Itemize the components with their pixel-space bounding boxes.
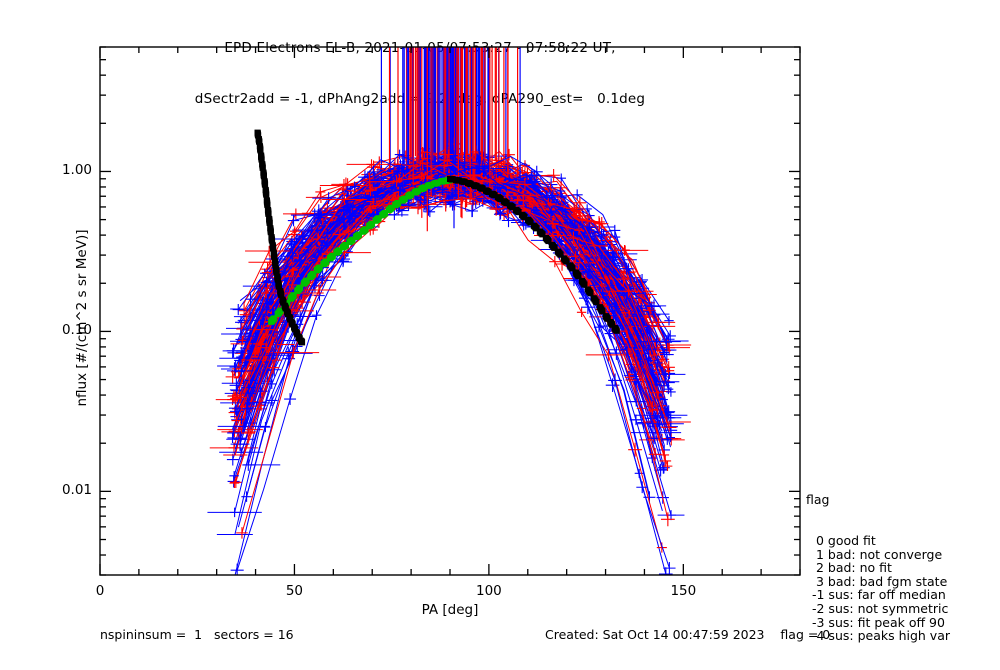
data-point-marker: [232, 416, 241, 425]
data-point-marker: [233, 304, 244, 315]
data-point-marker: [664, 316, 673, 325]
flag-legend-item: -4 sus: peaks high var: [812, 629, 950, 643]
fit-curve-dash: [263, 191, 269, 197]
data-point-marker: [312, 310, 322, 320]
footer-spin-info: nspininsum = 1 sectors = 16: [100, 627, 294, 642]
x-tick-label: 150: [653, 583, 713, 599]
data-point-marker: [227, 454, 239, 466]
fit-curve-dash: [614, 328, 620, 334]
flag-legend-item: 1 bad: not converge: [812, 548, 950, 562]
flag-legend-item: 3 bad: bad fgm state: [812, 575, 950, 589]
flag-legend-item: -1 sus: far off median: [812, 588, 950, 602]
flag-legend-item: -2 sus: not symmetric: [812, 602, 950, 616]
y-tick-label: 1.00: [32, 162, 92, 178]
y-tick-label: 0.01: [32, 482, 92, 498]
fit-curve-dash: [262, 182, 268, 188]
data-point-marker: [315, 187, 325, 197]
data-point-marker: [666, 387, 676, 397]
flag-legend-item: -3 sus: fit peak off 90: [812, 616, 950, 630]
fit-curve-dash: [267, 220, 273, 226]
data-point-marker: [659, 567, 673, 581]
data-layer: [207, 47, 691, 581]
x-tick-label: 0: [70, 583, 130, 599]
data-point-marker: [229, 471, 239, 481]
data-point-marker: [284, 393, 296, 405]
data-point-marker: [577, 308, 586, 317]
x-axis-title: PA [deg]: [100, 602, 800, 618]
pad-spectrum-line: [246, 177, 655, 455]
data-point-marker: [572, 189, 583, 200]
fit-curve-dash: [299, 339, 305, 345]
flag-legend-item: 0 good fit: [812, 534, 950, 548]
fit-curve-dash: [257, 147, 263, 153]
plot-page: EPD Electrons EL-B, 2021-01-05/07:53:27 …: [0, 0, 1000, 650]
footer-created-info: Created: Sat Oct 14 00:47:59 2023 flag =…: [545, 627, 830, 642]
flag-legend-header: flag: [806, 493, 950, 507]
x-tick-label: 50: [264, 583, 324, 599]
pad-spectrum-line: [234, 170, 660, 483]
data-point-marker: [661, 512, 675, 526]
y-tick-label: 0.10: [32, 322, 92, 338]
data-point-marker: [227, 427, 239, 439]
flag-legend-item: 2 bad: no fit: [812, 561, 950, 575]
data-point-marker: [288, 215, 299, 226]
x-tick-label: 100: [459, 583, 519, 599]
